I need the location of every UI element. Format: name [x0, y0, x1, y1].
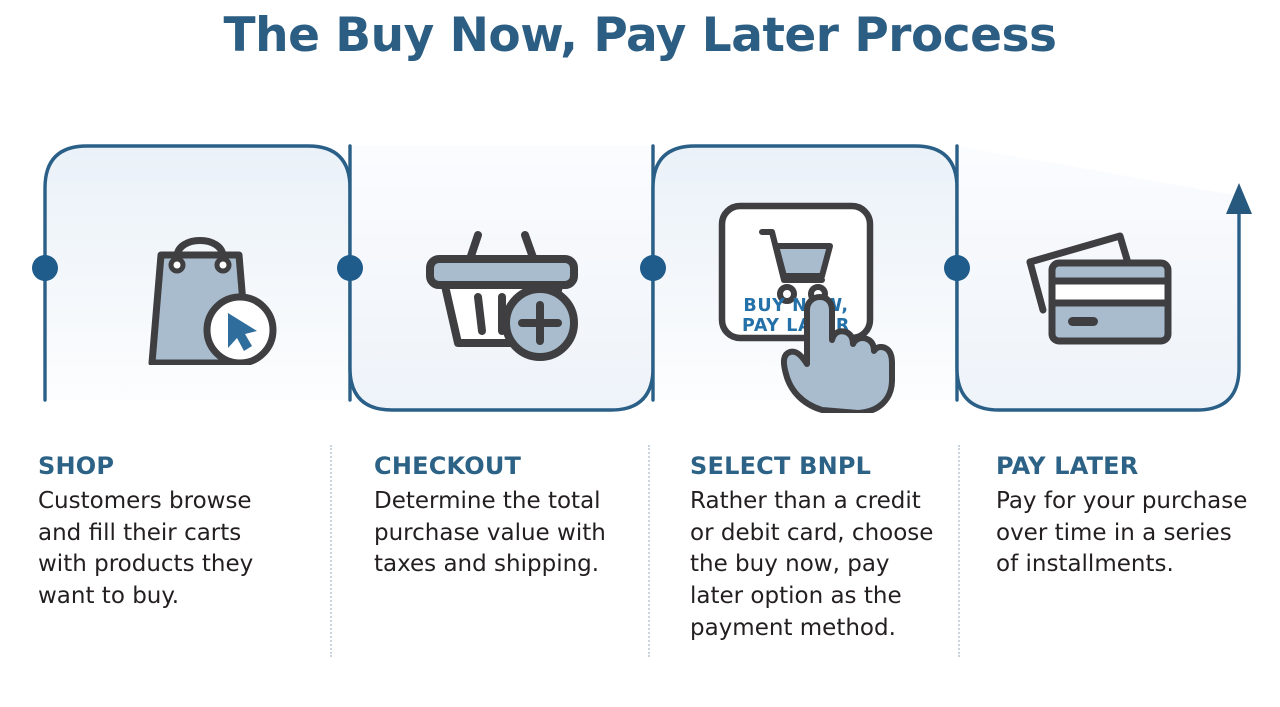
- shopping-bag-cursor-icon: [120, 205, 280, 365]
- step-body-select-bnpl: Rather than a credit or debit card, choo…: [690, 486, 945, 645]
- column-divider-1: [330, 445, 332, 657]
- step-body-shop: Customers browse and fill their carts wi…: [38, 486, 293, 613]
- bnpl-button-hand-icon[interactable]: BUY NOW, PAY LATER: [710, 198, 920, 413]
- step-body-pay-later: Pay for your purchase over time in a ser…: [996, 486, 1258, 581]
- step-column-pay-later: PAY LATER Pay for your purchase over tim…: [996, 452, 1258, 581]
- step-column-select-bnpl: SELECT BNPL Rather than a credit or debi…: [690, 452, 945, 645]
- connector-dot-2: [337, 255, 363, 281]
- connector-dot-3: [640, 255, 666, 281]
- step-column-checkout: CHECKOUT Determine the total purchase va…: [374, 452, 629, 581]
- column-divider-3: [958, 445, 960, 657]
- connector-dot-1: [32, 255, 58, 281]
- step-column-shop: SHOP Customers browse and fill their car…: [38, 452, 293, 613]
- step-heading-shop: SHOP: [38, 452, 293, 480]
- column-divider-2: [648, 445, 650, 657]
- arrow-up-icon: [1226, 183, 1252, 214]
- shopping-basket-plus-icon: [420, 215, 600, 365]
- step-heading-select-bnpl: SELECT BNPL: [690, 452, 945, 480]
- page-title: The Buy Now, Pay Later Process: [0, 8, 1280, 63]
- step-heading-pay-later: PAY LATER: [996, 452, 1258, 480]
- infographic-canvas: The Buy Now, Pay Later Process: [0, 0, 1280, 707]
- step-heading-checkout: CHECKOUT: [374, 452, 629, 480]
- connector-dot-4: [944, 255, 970, 281]
- credit-cards-icon: [1010, 225, 1190, 355]
- step-body-checkout: Determine the total purchase value with …: [374, 486, 629, 581]
